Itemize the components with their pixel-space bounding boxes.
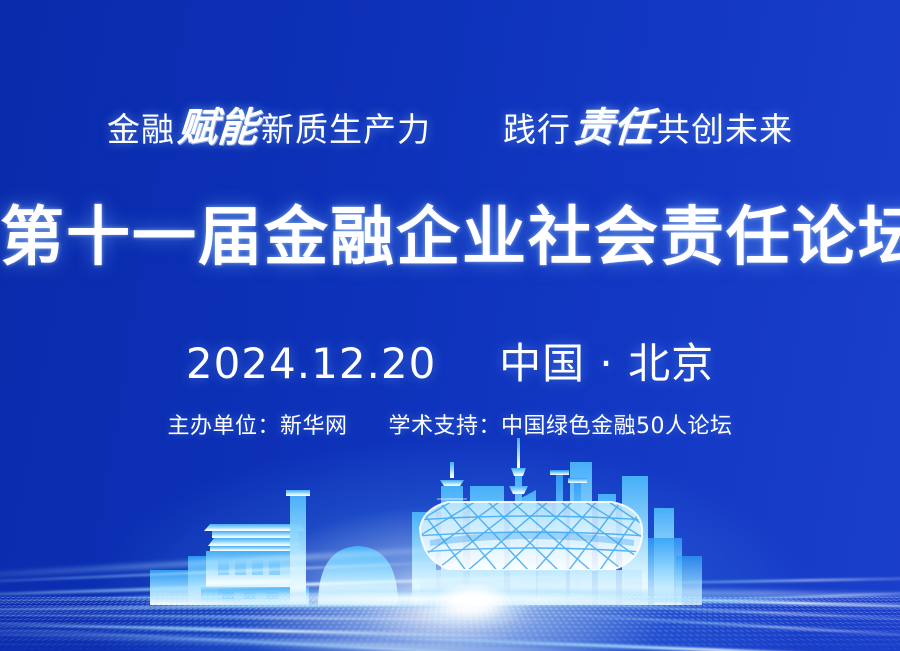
- light-ray: [470, 637, 647, 651]
- tv-tower-icon: [509, 438, 528, 605]
- light-streak: [500, 610, 900, 640]
- skyline-left-blocks: [150, 556, 218, 605]
- light-ray: [416, 604, 473, 651]
- light-streak: [0, 624, 839, 651]
- horizon-glow: [0, 586, 900, 612]
- light-ray: [470, 613, 574, 651]
- tagline-2-prefix: 践行: [503, 103, 571, 151]
- pagoda-tower-icon: [437, 462, 467, 605]
- cctv-building-icon: [478, 420, 690, 605]
- light-streak: [0, 590, 460, 603]
- light-streak: [0, 559, 500, 587]
- light-ray: [470, 626, 617, 651]
- tagline-1-prefix: 金融: [107, 103, 175, 151]
- academic-support-label: 学术支持：: [389, 414, 502, 439]
- light-streak: [0, 620, 530, 638]
- light-ray: [462, 601, 472, 651]
- light-streak: [470, 598, 900, 623]
- cctv-loop-icon: [470, 486, 520, 605]
- tagline-2-suffix: 共创未来: [657, 103, 793, 151]
- light-streak: [0, 598, 740, 614]
- light-streak: [0, 624, 730, 651]
- light-streak: [380, 585, 900, 600]
- organizer-value: 新华网: [280, 414, 348, 439]
- event-date-location: 2024.12.20 中国 · 北京: [0, 330, 900, 391]
- beijing-skyline: [0, 420, 900, 610]
- ncpa-dome-icon: [318, 546, 398, 605]
- light-ray: [470, 603, 510, 651]
- tagline-1-brush: 赋能: [176, 95, 260, 153]
- lattice-towers-icon: [536, 470, 587, 605]
- birds-nest-stadium-icon: [414, 500, 650, 605]
- tagline-2: 践行 责任 共创未来: [503, 95, 793, 153]
- light-ray: [282, 644, 471, 651]
- light-streak: [420, 591, 900, 612]
- skyline-right-blocks: [648, 538, 702, 605]
- tagline-1: 金融 赋能 新质生产力: [107, 95, 431, 153]
- organizer-label: 主办单位：: [167, 414, 280, 439]
- monument-column-icon: [286, 490, 310, 605]
- light-ray: [470, 602, 496, 651]
- light-ray: [340, 621, 473, 651]
- light-ray: [470, 607, 542, 651]
- light-ray: [470, 617, 587, 651]
- credits-line: 主办单位：新华网 学术支持：中国绿色金融50人论坛: [0, 408, 900, 440]
- light-streak: [0, 540, 560, 584]
- tiananmen-gate-icon: [201, 524, 309, 605]
- forum-poster: 金融 赋能 新质生产力 践行 责任 共创未来 第十一届金融企业社会责任论坛 20…: [0, 0, 900, 651]
- light-burst: [398, 565, 548, 639]
- light-streak: [0, 573, 630, 600]
- tagline-row: 金融 赋能 新质生产力 践行 责任 共创未来: [0, 95, 900, 153]
- light-streak: [0, 612, 570, 621]
- halftone-ground: [0, 596, 900, 649]
- light-ray: [385, 609, 472, 651]
- cctv-headquarters-icon: [484, 538, 532, 605]
- office-towers-icon: [412, 462, 674, 605]
- event-location: 中国 · 北京: [499, 339, 714, 388]
- tagline-1-suffix: 新质生产力: [261, 103, 431, 151]
- tagline-2-brush: 责任: [572, 95, 656, 153]
- light-ray: [431, 603, 471, 651]
- event-date: 2024.12.20: [186, 339, 436, 388]
- light-ray: [310, 631, 472, 651]
- light-streak: [300, 633, 900, 651]
- light-streak: [560, 576, 900, 585]
- light-ray: [470, 644, 659, 651]
- academic-support-value: 中国绿色金融50人论坛: [501, 414, 733, 439]
- light-ray: [354, 617, 471, 651]
- page-title: 第十一届金融企业社会责任论坛: [0, 186, 900, 278]
- light-streak: [620, 590, 900, 604]
